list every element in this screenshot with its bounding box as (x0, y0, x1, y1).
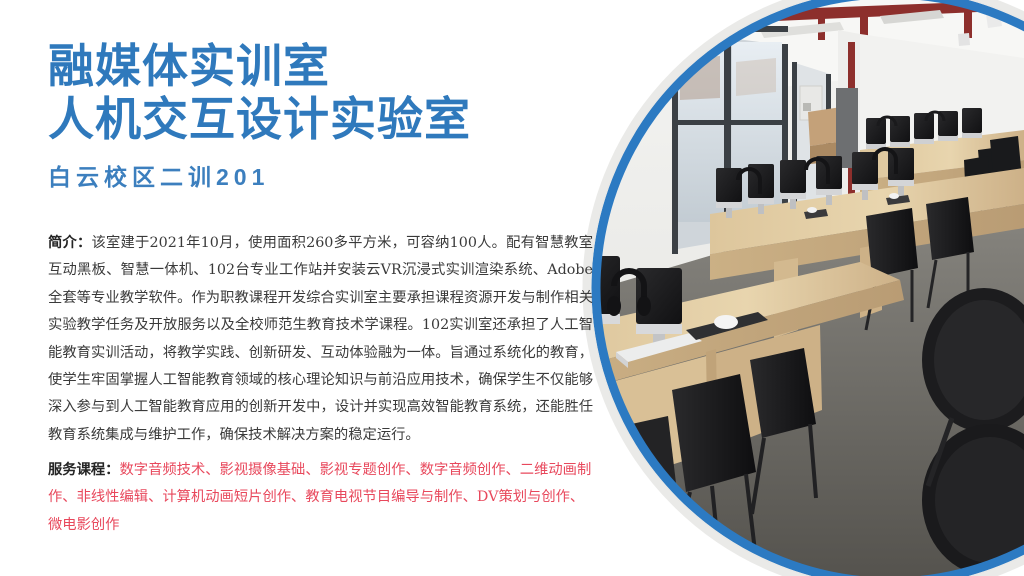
title-block: 融媒体实训室 人机交互设计实验室 白云校区二训201 (48, 40, 568, 192)
courses-label: 服务课程： (48, 462, 119, 478)
photo-panel (560, 0, 1024, 576)
intro-paragraph: 简介：该室建于2021年10月，使用面积260多平方米，可容纳100人。配有智慧… (48, 230, 593, 449)
page-subtitle: 白云校区二训201 (48, 162, 568, 192)
text-column: 融媒体实训室 人机交互设计实验室 白云校区二训201 简介：该室建于2021年1… (0, 0, 600, 576)
page-title-line-2: 人机交互设计实验室 (48, 93, 568, 146)
courses-block: 服务课程：数字音频技术、影视摄像基础、影视专题创作、数字音频创作、二维动画制作、… (48, 457, 593, 539)
page-title-line-1: 融媒体实训室 (48, 40, 568, 93)
intro-text: 该室建于2021年10月，使用面积260多平方米，可容纳100人。配有智慧教室互… (48, 235, 593, 443)
courses-text: 数字音频技术、影视摄像基础、影视专题创作、数字音频创作、二维动画制作、非线性编辑… (48, 462, 591, 533)
courses-paragraph: 服务课程：数字音频技术、影视摄像基础、影视专题创作、数字音频创作、二维动画制作、… (48, 457, 593, 539)
slide-canvas: 融媒体实训室 人机交互设计实验室 白云校区二训201 简介：该室建于2021年1… (0, 0, 1024, 576)
classroom-photo (560, 0, 1024, 576)
intro-label: 简介： (48, 235, 92, 251)
intro-block: 简介：该室建于2021年10月，使用面积260多平方米，可容纳100人。配有智慧… (48, 230, 593, 449)
